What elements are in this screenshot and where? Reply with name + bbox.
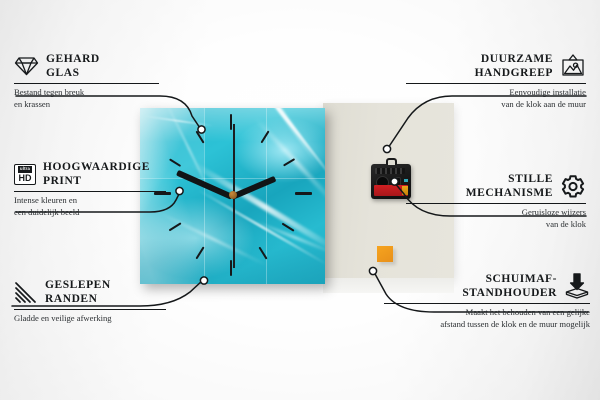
feature-header: GEHARD GLAS bbox=[14, 52, 176, 81]
connector-dot-randen bbox=[200, 277, 207, 284]
feature-divider bbox=[14, 83, 159, 84]
feature-geslepen-randen[interactable]: GESLEPEN RANDEN Gladde en veilige afwerk… bbox=[14, 278, 184, 325]
feature-title: SCHUIMAF- STANDHOUDER bbox=[462, 272, 557, 301]
feature-hoogwaardige-print[interactable]: ultra HD HOOGWAARDIGE PRINT Intense kleu… bbox=[14, 160, 184, 219]
feature-divider bbox=[384, 303, 590, 304]
feature-header: STILLE MECHANISME bbox=[406, 172, 586, 201]
feature-header: SCHUIMAF- STANDHOUDER bbox=[384, 272, 590, 301]
feature-description: Bestand tegen breuk en krassen bbox=[14, 87, 176, 111]
feature-header: DUURZAME HANDGREEP bbox=[406, 52, 586, 81]
feature-header: GESLEPEN RANDEN bbox=[14, 278, 184, 307]
connector-dot-gehard-glas bbox=[198, 126, 205, 133]
feature-divider bbox=[406, 203, 586, 204]
feature-schuimafstandhouder[interactable]: SCHUIMAF- STANDHOUDER Maakt het behouden… bbox=[384, 272, 590, 331]
ultra-hd-icon: ultra HD bbox=[14, 164, 36, 185]
feature-header: ultra HD HOOGWAARDIGE PRINT bbox=[14, 160, 184, 189]
feature-divider bbox=[14, 309, 166, 310]
connector-dot-schuimafstandhouder bbox=[369, 267, 376, 274]
feature-stille-mechanisme[interactable]: STILLE MECHANISME Geruisloze wijzers van… bbox=[406, 172, 586, 231]
feature-title: STILLE MECHANISME bbox=[466, 172, 553, 201]
feature-title: GESLEPEN RANDEN bbox=[45, 278, 111, 307]
diamond-icon bbox=[14, 55, 39, 77]
beveled-edges-icon bbox=[14, 281, 38, 303]
gear-icon bbox=[560, 174, 586, 199]
feature-duurzame-handgreep[interactable]: DUURZAME HANDGREEP Eenvoudige installati… bbox=[406, 52, 586, 111]
hanging-frame-icon bbox=[560, 54, 586, 79]
feature-description: Maakt het behouden van een gelijke afsta… bbox=[384, 307, 590, 331]
feature-description: Geruisloze wijzers van de klok bbox=[406, 207, 586, 231]
feature-title: GEHARD GLAS bbox=[46, 52, 100, 81]
connector-dot-mechanisme bbox=[391, 178, 398, 185]
foam-spacer-icon bbox=[564, 273, 590, 299]
feature-title: HOOGWAARDIGE PRINT bbox=[43, 160, 150, 189]
feature-divider bbox=[14, 191, 166, 192]
feature-title: DUURZAME HANDGREEP bbox=[475, 52, 553, 81]
feature-gehard-glas[interactable]: GEHARD GLAS Bestand tegen breuk en krass… bbox=[14, 52, 176, 111]
feature-divider bbox=[406, 83, 586, 84]
feature-description: Eenvoudige installatie van de klok aan d… bbox=[406, 87, 586, 111]
feature-description: Intense kleuren en een duidelijk beeld bbox=[14, 195, 184, 219]
connector-dot-handgreep bbox=[383, 145, 390, 152]
feature-description: Gladde en veilige afwerking bbox=[14, 313, 184, 325]
